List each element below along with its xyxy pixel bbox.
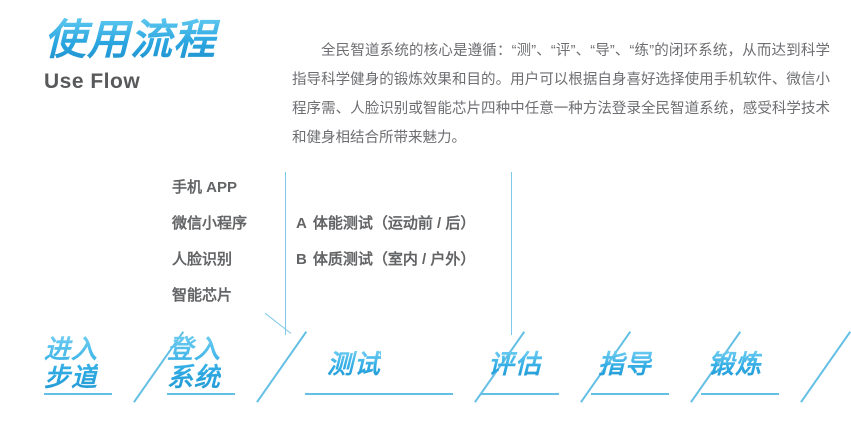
step-label: 评估 <box>488 350 542 378</box>
page-title-chinese: 使用流程 <box>44 18 294 62</box>
step-underline <box>305 393 453 395</box>
step-label: 指导 <box>598 350 652 378</box>
step-item-4: 评估 <box>485 320 595 400</box>
step-label: 登入 系统 <box>167 335 221 391</box>
login-methods-list: 手机 APP 微信小程序 人脸识别 智能芯片 <box>172 170 272 314</box>
list-item: B体质测试（室内 / 户外） <box>296 242 506 278</box>
list-item: 人脸识别 <box>172 242 272 278</box>
step-underline <box>701 393 779 395</box>
step-strip: 进入 步道 登入 系统 测试 评估 指导 <box>0 320 851 400</box>
step-item-5: 指导 <box>595 320 705 400</box>
list-item: 手机 APP <box>172 170 272 206</box>
step-underline <box>44 393 112 395</box>
step-slash <box>256 331 307 402</box>
step-label: 进入 步道 <box>44 335 98 391</box>
test-item-key: A <box>296 215 307 232</box>
step-slash <box>800 331 851 402</box>
step-item-6: 锻炼 <box>705 320 851 400</box>
step-underline <box>167 393 235 395</box>
step-item-2: 登入 系统 <box>160 320 305 400</box>
use-flow-infographic: 使用流程 Use Flow 全民智道系统的核心是遵循：“测”、“评”、“导”、“… <box>0 0 851 442</box>
page-title-english: Use Flow <box>44 70 294 94</box>
divider-line-right <box>511 172 512 335</box>
divider-line-left <box>285 172 286 335</box>
step-underline <box>591 393 669 395</box>
step-item-1: 进入 步道 <box>0 320 160 400</box>
step-label: 测试 <box>327 350 381 378</box>
list-item: 智能芯片 <box>172 278 272 314</box>
list-item: 微信小程序 <box>172 206 272 242</box>
test-item-label: 体能测试（运动前 / 后） <box>313 215 476 232</box>
step-underline <box>481 393 559 395</box>
intro-paragraph: 全民智道系统的核心是遵循：“测”、“评”、“导”、“练”的闭环系统，从而达到科学… <box>292 37 830 153</box>
list-item: A体能测试（运动前 / 后） <box>296 206 506 242</box>
test-item-label: 体质测试（室内 / 户外） <box>313 251 476 268</box>
test-types-list: A体能测试（运动前 / 后） B体质测试（室内 / 户外） <box>296 206 506 278</box>
step-label: 锻炼 <box>708 350 762 378</box>
test-item-key: B <box>296 251 307 268</box>
header-block: 使用流程 Use Flow <box>44 18 294 94</box>
step-item-3: 测试 <box>305 320 485 400</box>
